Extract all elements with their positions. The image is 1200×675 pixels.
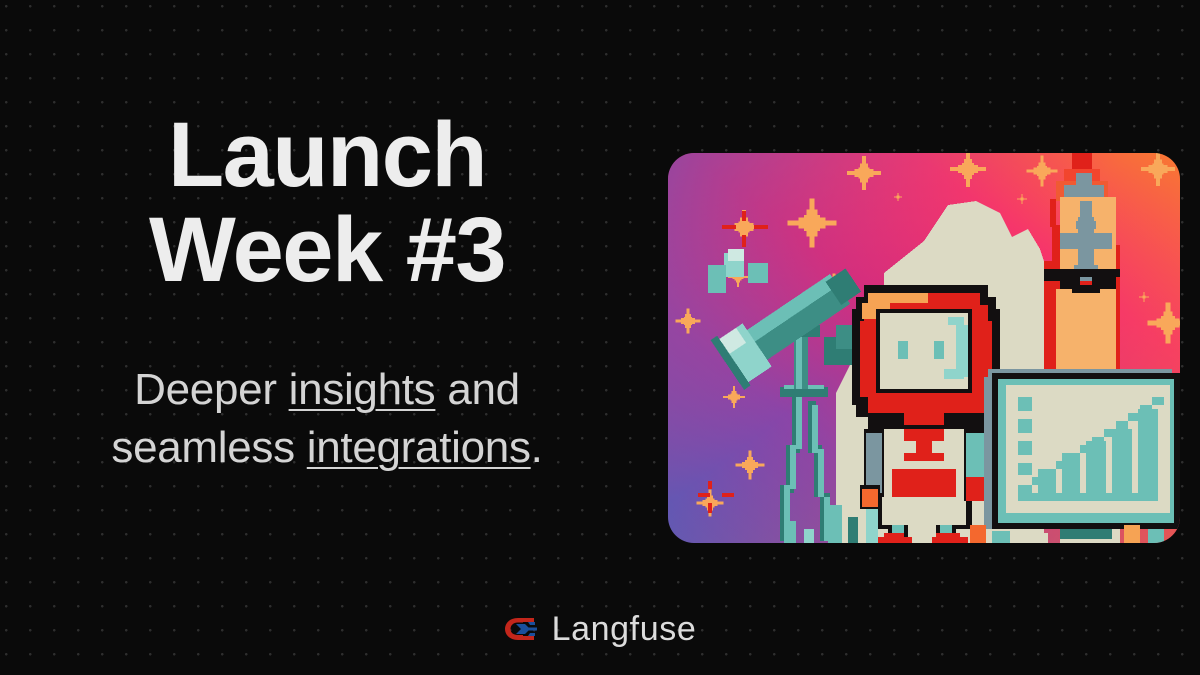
subtitle-line-2: seamless integrations. <box>111 423 542 472</box>
page-title: Launch Week #3 <box>149 108 505 299</box>
launch-week-slide: Launch Week #3 Deeper insights and seaml… <box>0 0 1200 675</box>
subtitle-emphasis-insights: insights <box>289 365 436 414</box>
subtitle-line-1: Deeper insights and <box>134 365 520 414</box>
pixel-art-illustration <box>668 153 1180 543</box>
subtitle-emphasis-integrations: integrations <box>307 423 531 472</box>
subtitle: Deeper insights and seamless integration… <box>111 361 542 477</box>
langfuse-logo-icon <box>504 616 538 642</box>
text-column: Launch Week #3 Deeper insights and seaml… <box>0 0 640 585</box>
hero-artwork <box>668 153 1180 543</box>
subtitle-text-4: . <box>531 423 543 472</box>
analytics-monitor <box>984 369 1180 539</box>
subtitle-text-2: and <box>435 365 519 414</box>
brand-name: Langfuse <box>552 610 697 649</box>
subtitle-text-1: Deeper <box>134 365 288 414</box>
brand-lockup: Langfuse <box>0 600 1200 658</box>
subtitle-text-3: seamless <box>111 423 306 472</box>
